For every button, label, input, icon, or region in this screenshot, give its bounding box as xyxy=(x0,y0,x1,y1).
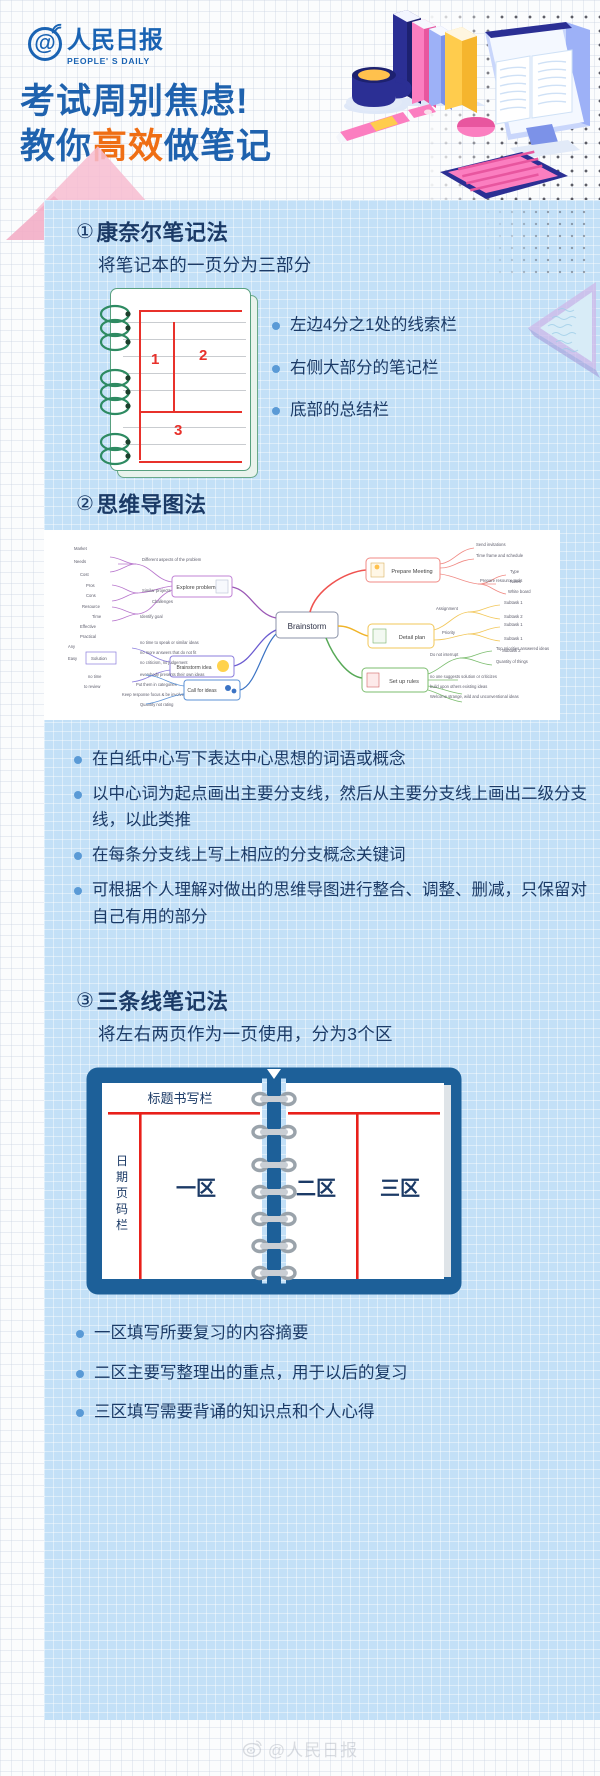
svg-text:Set up rules: Set up rules xyxy=(389,679,419,685)
bullet-text: 在白纸中心写下表达中心思想的词语或概念 xyxy=(92,746,406,773)
card-dot-decoration xyxy=(482,206,594,276)
bullet-text: 可根据个人理解对做出的思维导图进行整合、调整、删减，只保留对自己有用的部分 xyxy=(92,877,590,930)
bullet-text: 右侧大部分的笔记栏 xyxy=(290,355,439,382)
bullet-text: 三区填写需要背诵的知识点和个人心得 xyxy=(94,1399,375,1426)
list-item: 二区主要写整理出的重点，用于以后的复习 xyxy=(76,1360,592,1387)
section-2-bullet-list: 在白纸中心写下表达中心思想的词语或概念 以中心词为起点画出主要分支线，然后从主要… xyxy=(74,746,590,938)
svg-text:Quantity of things: Quantity of things xyxy=(496,659,528,664)
notebook-zone-2-label: 二区 xyxy=(296,1178,336,1200)
content-card: ① 康奈尔笔记法 将笔记本的一页分为三部分 xyxy=(44,200,600,1720)
svg-text:no one suggests solution or cr: no one suggests solution or criticizes xyxy=(430,674,497,679)
svg-text:Subtask 1: Subtask 1 xyxy=(504,622,523,627)
notebook-zone-1-label: 一区 xyxy=(176,1178,216,1200)
title-line-2-part-b: 做笔记 xyxy=(164,127,272,166)
svg-text:Identify goal: Identify goal xyxy=(140,614,163,619)
svg-text:栏: 栏 xyxy=(116,1217,128,1232)
svg-text:Any: Any xyxy=(68,644,76,649)
svg-text:Do not interrupt: Do not interrupt xyxy=(430,652,459,657)
svg-text:Top priorities answered ideas: Top priorities answered ideas xyxy=(496,646,549,651)
bullet-dot-icon xyxy=(76,1409,84,1417)
notebook-header-label: 标题书写栏 xyxy=(147,1091,212,1106)
header: @ 人民日报 PEOPLE' S DAILY 考试周别焦虑! 教你高效做笔记 xyxy=(0,0,600,207)
title-line-1: 考试周别焦虑! xyxy=(20,80,272,125)
cornell-zone-label-1: 1 xyxy=(151,351,159,368)
section-1-subtitle: 将笔记本的一页分为三部分 xyxy=(98,252,312,277)
wifi-signal-icon xyxy=(51,23,64,36)
svg-text:no time: no time xyxy=(88,674,102,679)
section-1-title: 康奈尔笔记法 xyxy=(96,216,228,247)
svg-text:Effective: Effective xyxy=(80,624,97,629)
section-1-number: ① xyxy=(76,219,94,244)
section-1-heading: ① 康奈尔笔记法 xyxy=(76,216,228,247)
svg-text:Explore problem: Explore problem xyxy=(176,585,216,591)
svg-text:Type: Type xyxy=(510,569,520,574)
section-3-bullet-list: 一区填写所要复习的内容摘要 二区主要写整理出的重点，用于以后的复习 三区填写需要… xyxy=(76,1320,592,1439)
notebook-side-label-char-1: 日 xyxy=(116,1154,128,1168)
svg-text:everybody presents their own i: everybody presents their own ideas xyxy=(140,672,204,677)
svg-text:Priority: Priority xyxy=(442,630,456,635)
svg-text:Quantity not rating: Quantity not rating xyxy=(140,702,174,707)
svg-text:Call for ideas: Call for ideas xyxy=(187,688,217,694)
cornell-zone-label-3: 3 xyxy=(174,422,182,439)
svg-text:Cons: Cons xyxy=(86,593,96,598)
svg-text:Pros: Pros xyxy=(86,583,95,588)
svg-text:Time: Time xyxy=(92,614,102,619)
svg-text:Cost: Cost xyxy=(80,572,89,577)
triangle-ruler-decoration xyxy=(522,278,600,388)
page-title: 考试周别焦虑! 教你高效做笔记 xyxy=(20,80,272,170)
bullet-text: 底部的总结栏 xyxy=(290,397,389,424)
list-item: 以中心词为起点画出主要分支线，然后从主要分支线上画出二级分支线，以此类推 xyxy=(74,781,590,834)
svg-text:页: 页 xyxy=(116,1186,128,1200)
list-item: 底部的总结栏 xyxy=(272,397,592,424)
three-line-notebook-diagram: 标题书写栏 日 期 页 码 栏 一区 二区 三区 xyxy=(84,1065,464,1297)
bullet-text: 左边4分之1处的线索栏 xyxy=(290,312,457,339)
section-3-title: 三条线笔记法 xyxy=(96,985,228,1016)
bullet-dot-icon xyxy=(74,791,82,799)
bullet-dot-icon xyxy=(76,1370,84,1378)
cornell-notebook-diagram: 1 2 3 xyxy=(110,288,258,478)
section-3-number: ③ xyxy=(76,988,94,1013)
at-symbol-icon: @ xyxy=(28,27,62,61)
bullet-dot-icon xyxy=(74,887,82,895)
brand-name-cn: 人民日报 xyxy=(67,28,163,53)
svg-text:Welcome strange, wild and unco: Welcome strange, wild and unconventional… xyxy=(430,694,519,699)
svg-text:Brainstorm idea: Brainstorm idea xyxy=(176,665,211,671)
section-2-number: ② xyxy=(76,491,94,516)
list-item: 在每条分支线上写上相应的分支概念关键词 xyxy=(74,842,590,869)
svg-text:build upon others existing ide: build upon others existing ideas xyxy=(430,684,487,689)
bullet-dot-icon xyxy=(272,365,280,373)
desk-illustration xyxy=(300,0,600,212)
svg-text:to review: to review xyxy=(84,684,100,689)
svg-text:Needs: Needs xyxy=(74,559,86,564)
svg-text:Detail plan: Detail plan xyxy=(399,635,425,641)
bullet-dot-icon xyxy=(272,322,280,330)
list-item: 可根据个人理解对做出的思维导图进行整合、调整、删减，只保留对自己有用的部分 xyxy=(74,877,590,930)
list-item: 在白纸中心写下表达中心思想的词语或概念 xyxy=(74,746,590,773)
svg-text:Assignment: Assignment xyxy=(436,606,459,611)
svg-text:no criticism, no judgement: no criticism, no judgement xyxy=(140,660,188,665)
svg-text:Subtask 1: Subtask 1 xyxy=(504,600,523,605)
bullet-text: 在每条分支线上写上相应的分支概念关键词 xyxy=(92,842,406,869)
watermark-text: @人民日报 xyxy=(268,1736,358,1761)
svg-text:Subtask 2: Subtask 2 xyxy=(504,614,523,619)
notebook-spiral-icon xyxy=(94,300,140,470)
svg-text:Challenges: Challenges xyxy=(152,599,173,604)
section-2-title: 思维导图法 xyxy=(96,488,206,519)
svg-text:Similar projects: Similar projects xyxy=(142,588,171,593)
infographic-page: @ 人民日报 PEOPLE' S DAILY 考试周别焦虑! 教你高效做笔记 ① xyxy=(0,0,600,1776)
svg-text:期: 期 xyxy=(116,1170,128,1184)
footer: @人民日报 xyxy=(0,1720,600,1776)
bullet-dot-icon xyxy=(74,756,82,764)
watermark: @人民日报 xyxy=(242,1736,358,1761)
svg-text:Subtask 1: Subtask 1 xyxy=(504,636,523,641)
list-item: 三区填写需要背诵的知识点和个人心得 xyxy=(76,1399,592,1426)
svg-text:Practical: Practical xyxy=(80,634,96,639)
bullet-dot-icon xyxy=(76,1330,84,1338)
svg-text:no more answers that do not fi: no more answers that do not fit xyxy=(140,650,197,655)
section-2-heading: ② 思维导图法 xyxy=(76,488,206,519)
bullet-text: 一区填写所要复习的内容摘要 xyxy=(94,1320,309,1347)
bullet-dot-icon xyxy=(74,852,82,860)
svg-text:Solution: Solution xyxy=(91,656,107,661)
svg-text:码: 码 xyxy=(116,1202,128,1216)
list-item: 一区填写所要复习的内容摘要 xyxy=(76,1320,592,1347)
section-3-heading: ③ 三条线笔记法 xyxy=(76,985,228,1016)
section-3-subtitle: 将左右两页作为一页使用，分为3个区 xyxy=(98,1021,393,1046)
bullet-dot-icon xyxy=(272,407,280,415)
svg-text:no time to speak or similar id: no time to speak or similar ideas xyxy=(140,640,199,645)
title-line-2: 教你高效做笔记 xyxy=(20,125,272,170)
mindmap-center-label: Brainstorm xyxy=(288,622,327,631)
title-line-2-part-a: 教你 xyxy=(20,127,92,166)
notebook-zone-3-label: 三区 xyxy=(380,1178,420,1200)
svg-text:Different aspects of the probl: Different aspects of the problem xyxy=(142,557,202,562)
svg-text:Easy: Easy xyxy=(68,656,78,661)
mind-map-diagram: Brainstorm Explore problem Marke xyxy=(44,530,560,720)
svg-text:Send invitations: Send invitations xyxy=(476,542,506,547)
svg-text:Notes: Notes xyxy=(510,579,521,584)
svg-text:Market: Market xyxy=(74,546,88,551)
mindmap-node-prepare-meeting: Prepare Meeting xyxy=(391,569,432,575)
bullet-text: 二区主要写整理出的重点，用于以后的复习 xyxy=(94,1360,408,1387)
weibo-icon xyxy=(242,1737,264,1759)
brand-logo: @ 人民日报 PEOPLE' S DAILY xyxy=(28,27,163,66)
svg-text:Time frame and schedule: Time frame and schedule xyxy=(476,553,524,558)
svg-text:Keep response focus & be invol: Keep response focus & be involved xyxy=(122,692,187,697)
brand-name-en: PEOPLE' S DAILY xyxy=(67,56,163,66)
svg-text:White board: White board xyxy=(508,589,531,594)
svg-text:Resource: Resource xyxy=(82,604,101,609)
bullet-text: 以中心词为起点画出主要分支线，然后从主要分支线上画出二级分支线，以此类推 xyxy=(92,781,590,834)
cornell-zone-label-2: 2 xyxy=(199,347,207,364)
